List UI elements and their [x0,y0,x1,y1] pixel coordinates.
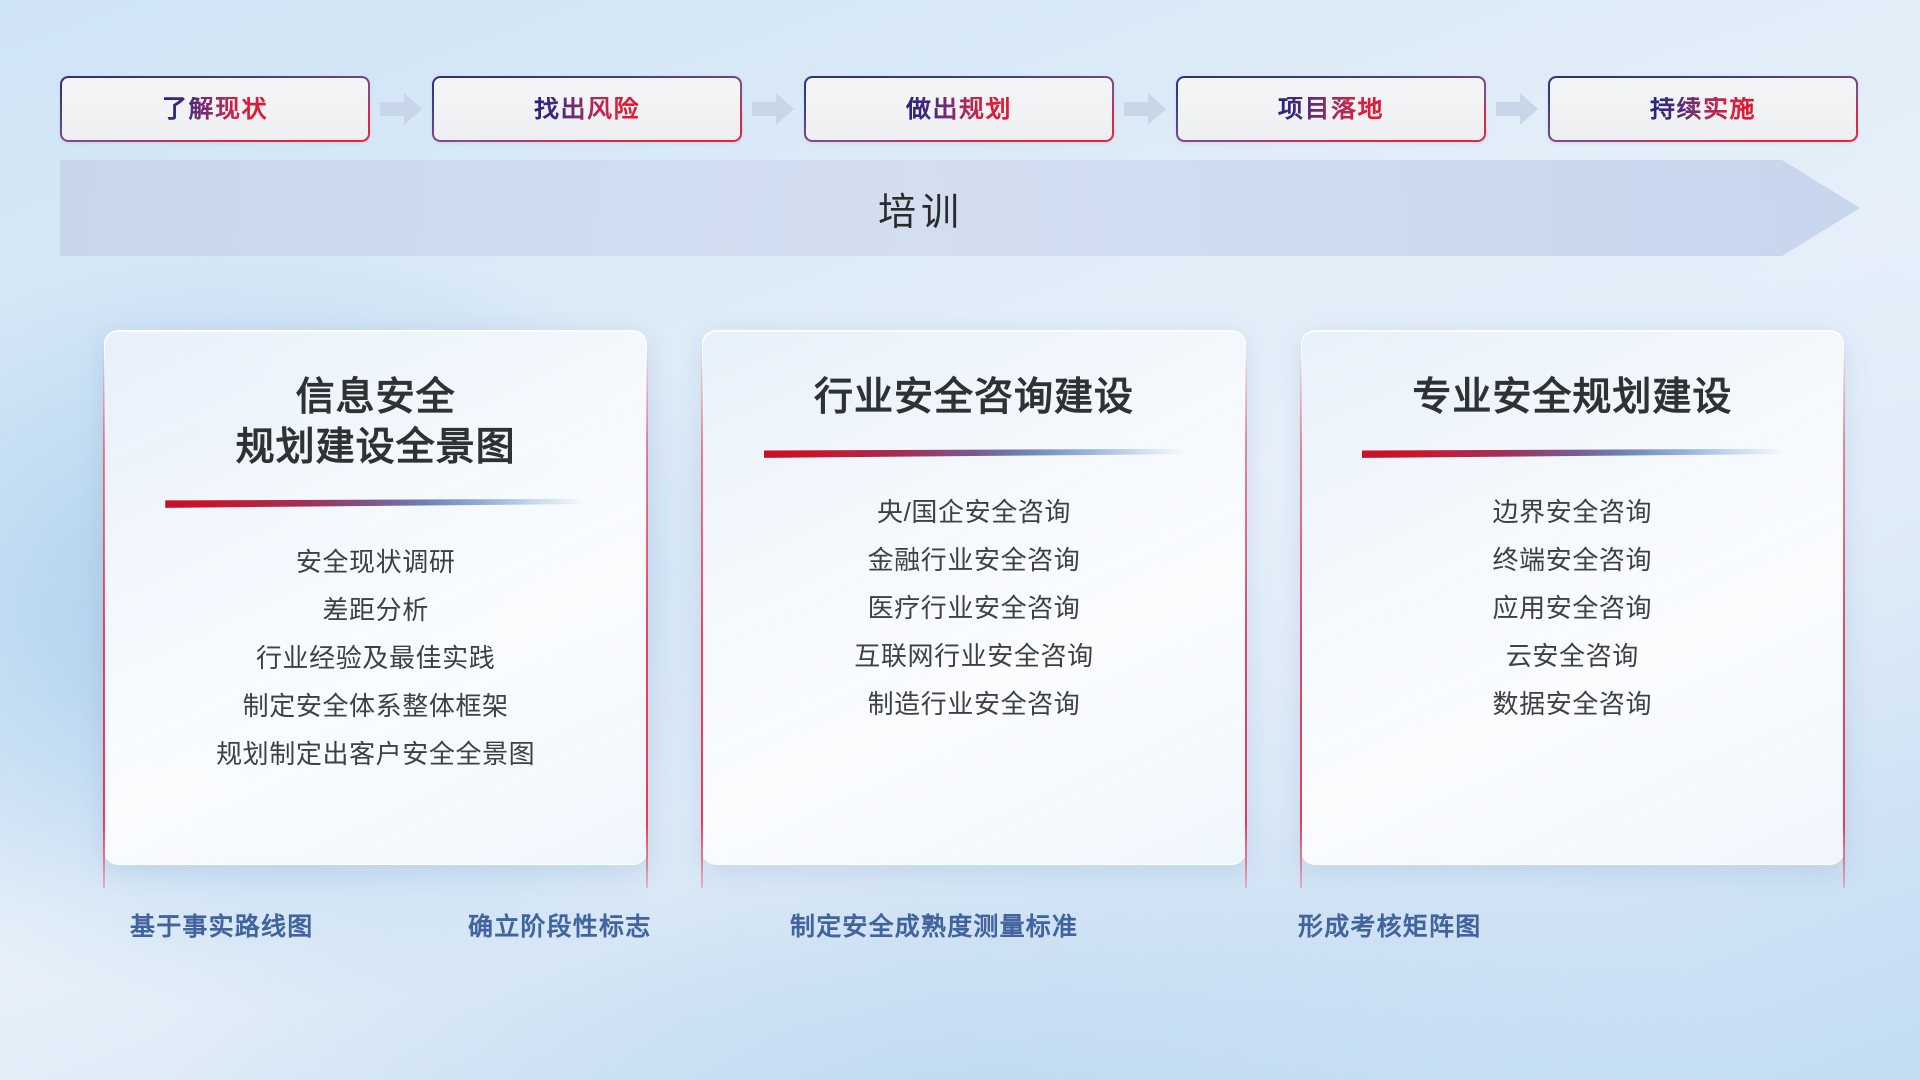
card-edge-accent-right [646,349,648,888]
card-divider-2 [764,449,1185,458]
step-label-5: 持续实施 [1650,97,1756,122]
card-edge-accent-left [701,349,703,888]
list-item[interactable]: 央/国企安全咨询 [729,488,1218,536]
step-label-4: 项目落地 [1278,97,1384,122]
card-title-1: 信息安全 规划建设全景图 [236,373,516,473]
list-item[interactable]: 边界安全咨询 [1328,488,1817,536]
list-item[interactable]: 规划制定出客户安全全景图 [131,730,620,778]
step-box-3[interactable]: 做出规划 [804,76,1114,142]
list-item[interactable]: 终端安全咨询 [1328,536,1817,584]
step-arrow-icon-4 [1486,76,1548,142]
card-title-3: 专业安全规划建设 [1412,373,1732,423]
step-label-3: 做出规划 [906,97,1012,122]
list-item[interactable]: 应用安全咨询 [1328,584,1817,632]
process-step-row: 了解现状 找出风险 做出规划 项目落地 [60,76,1860,142]
list-item[interactable]: 安全现状调研 [131,538,620,586]
card-list-3: 边界安全咨询 终端安全咨询 应用安全咨询 云安全咨询 数据安全咨询 [1328,488,1817,728]
banner-title: 培训 [60,160,1860,256]
list-item[interactable]: 数据安全咨询 [1328,680,1817,728]
card-row: 信息安全 规划建设全景图 安全现状调研 差距分析 行业经验及最佳实践 制定安全体… [104,330,1844,865]
card-industry-security-consulting[interactable]: 行业安全咨询建设 央/国企安全咨询 金融行业安全咨询 医疗行业安全咨询 互联网行… [702,330,1245,865]
step-label-1: 了解现状 [162,97,268,122]
list-item[interactable]: 差距分析 [131,586,620,634]
step-box-4[interactable]: 项目落地 [1176,76,1486,142]
slide-canvas: 了解现状 找出风险 做出规划 项目落地 [0,0,1920,1080]
footnote-3: 制定安全成熟度测量标准 [790,915,1078,940]
card-divider-1 [165,499,586,508]
card-list-2: 央/国企安全咨询 金融行业安全咨询 医疗行业安全咨询 互联网行业安全咨询 制造行… [729,488,1218,728]
footer-note-row: 基于事实路线图 确立阶段性标志 制定安全成熟度测量标准 形成考核矩阵图 [0,915,1920,961]
list-item[interactable]: 行业经验及最佳实践 [131,634,620,682]
list-item[interactable]: 制定安全体系整体框架 [131,682,620,730]
training-banner: 培训 [60,160,1860,256]
card-list-1: 安全现状调研 差距分析 行业经验及最佳实践 制定安全体系整体框架 规划制定出客户… [131,538,620,778]
card-professional-security-planning[interactable]: 专业安全规划建设 边界安全咨询 终端安全咨询 应用安全咨询 云安全咨询 数据安全… [1301,330,1844,865]
step-box-1[interactable]: 了解现状 [60,76,370,142]
card-edge-accent-left [103,349,105,888]
list-item[interactable]: 医疗行业安全咨询 [729,584,1218,632]
card-divider-3 [1362,449,1783,458]
footnote-2: 确立阶段性标志 [468,915,651,940]
list-item[interactable]: 金融行业安全咨询 [729,536,1218,584]
card-title-2: 行业安全咨询建设 [814,373,1134,423]
list-item[interactable]: 制造行业安全咨询 [729,680,1218,728]
step-arrow-icon-3 [1114,76,1176,142]
step-box-5[interactable]: 持续实施 [1548,76,1858,142]
step-label-2: 找出风险 [534,97,640,122]
list-item[interactable]: 云安全咨询 [1328,632,1817,680]
card-edge-accent-left [1300,349,1302,888]
step-box-2[interactable]: 找出风险 [432,76,742,142]
card-edge-accent-right [1843,349,1845,888]
footnote-1: 基于事实路线图 [130,915,313,940]
footnote-4: 形成考核矩阵图 [1298,915,1481,940]
list-item[interactable]: 互联网行业安全咨询 [729,632,1218,680]
step-arrow-icon-2 [742,76,804,142]
card-edge-accent-right [1245,349,1247,888]
card-info-security-blueprint[interactable]: 信息安全 规划建设全景图 安全现状调研 差距分析 行业经验及最佳实践 制定安全体… [104,330,647,865]
step-arrow-icon-1 [370,76,432,142]
